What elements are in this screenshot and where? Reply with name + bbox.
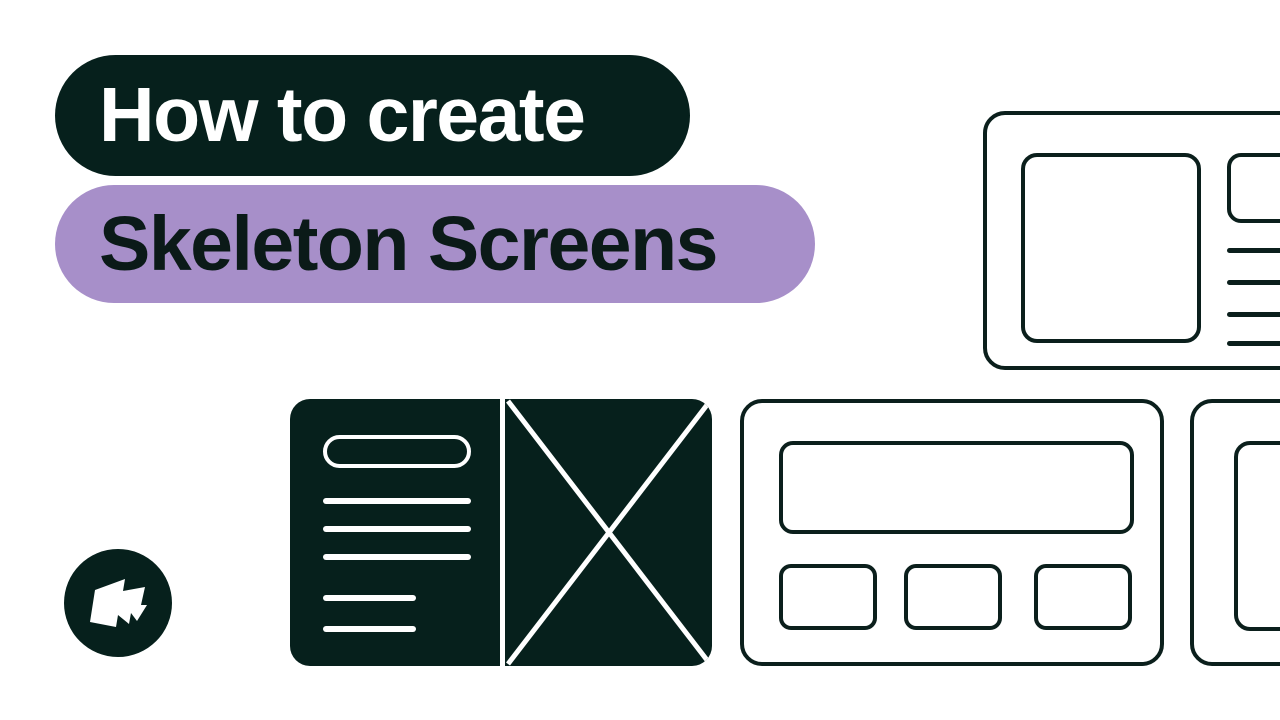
placeholder-button-1[interactable] xyxy=(779,564,877,630)
headline-line-2: Skeleton Screens xyxy=(99,206,717,283)
media-text-line-2 xyxy=(1227,280,1280,285)
cross-lines-icon xyxy=(505,399,712,666)
input-placeholder-block xyxy=(323,435,471,468)
placeholder-button-2[interactable] xyxy=(904,564,1002,630)
headline-line-1: How to create xyxy=(99,77,584,154)
title-placeholder-block xyxy=(1227,153,1280,223)
media-text-line-1 xyxy=(1227,248,1280,253)
media-text-line-3 xyxy=(1227,312,1280,317)
text-line-1 xyxy=(323,498,471,504)
skeleton-card-dark-text-panel xyxy=(290,399,500,666)
placeholder-button-3[interactable] xyxy=(1034,564,1132,630)
headline-pill-accent: Skeleton Screens xyxy=(55,185,815,303)
content-placeholder-block xyxy=(1234,441,1280,631)
skeleton-card-clipped xyxy=(1190,399,1280,666)
skeleton-card-dark xyxy=(290,399,712,666)
slide-canvas: How to create Skeleton Screens xyxy=(0,0,1280,720)
image-placeholder-square xyxy=(1021,153,1201,343)
content-block xyxy=(779,441,1134,534)
text-line-3 xyxy=(323,554,471,560)
skeleton-card-media xyxy=(983,111,1280,370)
brand-logo-badge[interactable] xyxy=(64,549,172,657)
headline-pill-primary: How to create xyxy=(55,55,690,176)
skeleton-card-form xyxy=(740,399,1164,666)
text-line-5 xyxy=(323,626,416,632)
bolt-mark-icon xyxy=(87,574,149,632)
image-placeholder-cross xyxy=(505,399,712,666)
text-line-4 xyxy=(323,595,416,601)
media-text-line-4 xyxy=(1227,341,1280,346)
text-line-2 xyxy=(323,526,471,532)
